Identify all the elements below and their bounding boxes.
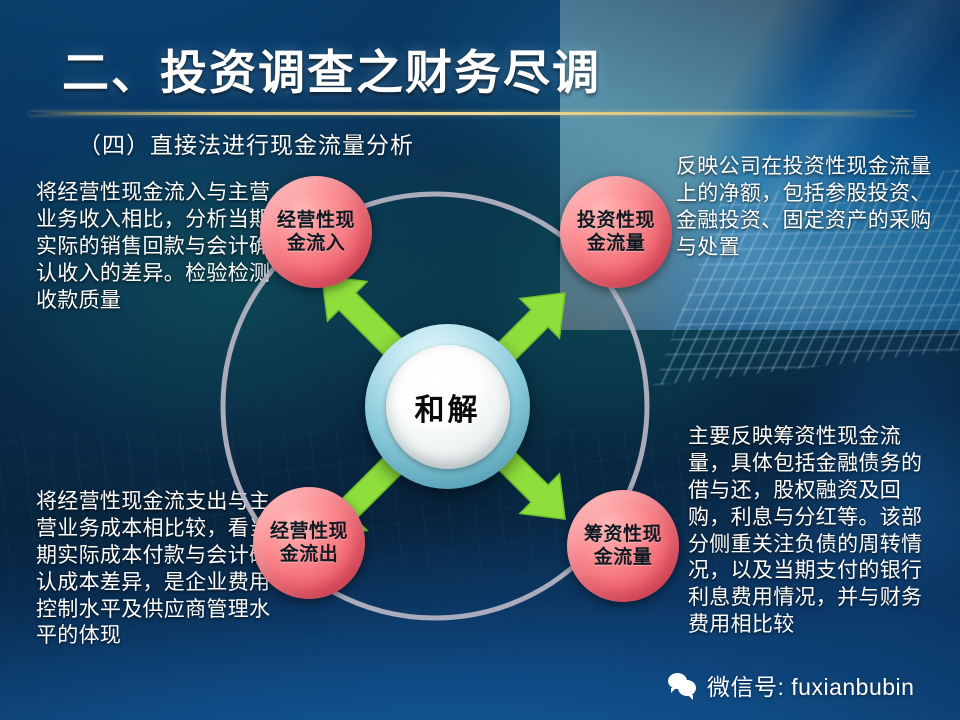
node-label-line1: 经营性现: [270, 520, 348, 543]
footer-wechat: 微信号: fuxianbubin: [668, 668, 914, 702]
node-label-line2: 金流出: [280, 543, 339, 566]
footer-wechat-id: 微信号: fuxianbubin: [707, 668, 914, 702]
title-divider: [30, 112, 914, 115]
hub-label: 和解: [415, 385, 481, 429]
node-operating-cash-outflow[interactable]: 经营性现 金流出: [253, 487, 365, 599]
note-investing-cash-flow: 反映公司在投资性现金流量上的净额，包括参股投资、金融投资、固定资产的采购与处置: [676, 154, 938, 262]
note-financing-cash-flow: 主要反映筹资性现金流量，具体包括金融债务的借与还，股权融资及回购，利息与分红等。…: [688, 424, 934, 639]
hub-reconciliation[interactable]: 和解: [365, 324, 530, 489]
page-title: 二、投资调查之财务尽调: [62, 34, 601, 103]
node-label-line1: 投资性现: [577, 209, 655, 232]
node-label-line2: 金流量: [594, 546, 653, 569]
slide-root: 二、投资调查之财务尽调 （四）直接法进行现金流量分析 将经营性现金流入与主营业务…: [0, 0, 960, 720]
node-operating-cash-inflow[interactable]: 经营性现 金流入: [260, 176, 372, 288]
node-financing-cash-flow[interactable]: 筹资性现 金流量: [567, 490, 679, 602]
node-label-line1: 筹资性现: [584, 523, 662, 546]
node-label-line2: 金流量: [587, 232, 646, 255]
node-label-line2: 金流入: [287, 232, 346, 255]
cash-flow-diagram: 经营性现 金流入 投资性现 金流量 经营性现 金流出 筹资性现 金流量 和解: [195, 150, 675, 630]
wechat-icon: [668, 672, 698, 698]
hub-inner-disc: 和解: [386, 345, 510, 469]
node-label-line1: 经营性现: [277, 209, 355, 232]
node-investing-cash-flow[interactable]: 投资性现 金流量: [560, 176, 672, 288]
